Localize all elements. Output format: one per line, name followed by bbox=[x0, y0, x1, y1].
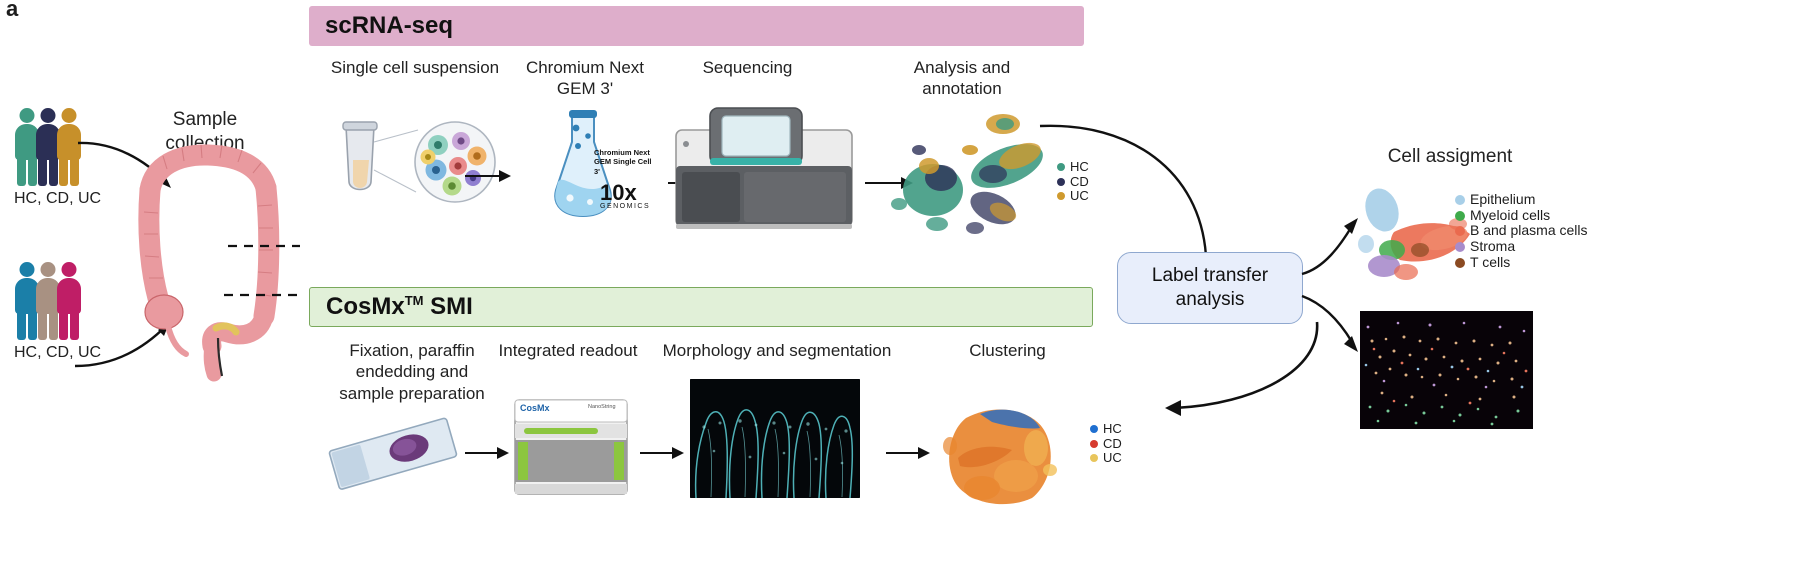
tenx-genomics-logo: 10x GENOMICS bbox=[600, 180, 650, 210]
step-label-sequencing: Sequencing bbox=[680, 57, 815, 78]
legend-item: Epithelium bbox=[1455, 192, 1588, 208]
legend-item: UC bbox=[1090, 451, 1122, 466]
section-title-cosmx: CosMxTM SMI bbox=[326, 293, 473, 321]
colon-illustration bbox=[120, 128, 295, 358]
step-label-clustering: Clustering bbox=[945, 340, 1070, 361]
legend-dot-hc bbox=[1090, 425, 1098, 433]
step-label-fixation: Fixation, paraffin endedding and sample … bbox=[322, 340, 502, 404]
legend-item: CD bbox=[1090, 437, 1122, 452]
label-transfer-box[interactable]: Label transfer analysis bbox=[1117, 252, 1303, 324]
legend-dot-b-and-plasma-cells bbox=[1455, 226, 1465, 236]
cosmx-instrument-vendor: NanoString bbox=[588, 404, 616, 410]
label-transfer-line1: Label transfer bbox=[1152, 265, 1268, 286]
cosmx-instrument-brand: CosMx bbox=[520, 403, 550, 413]
cosmx-instrument-icon bbox=[512, 398, 632, 498]
step-label-integrated-readout: Integrated readout bbox=[493, 340, 643, 361]
slide-icon bbox=[322, 412, 462, 497]
legend-label-t-cells: T cells bbox=[1470, 255, 1510, 271]
legend-dot-myeloid-cells bbox=[1455, 211, 1465, 221]
cell-assignment-title: Cell assigment bbox=[1320, 145, 1580, 169]
tissue-fluorescence-image bbox=[690, 379, 860, 498]
arrow-to-tissue-image bbox=[640, 452, 682, 454]
legend-label-epithelium: Epithelium bbox=[1470, 192, 1535, 208]
section-header-cosmx: CosMxTM SMI bbox=[309, 287, 1093, 327]
legend-item: B and plasma cells bbox=[1455, 223, 1588, 239]
step-label-chromium: Chromium Next GEM 3' bbox=[510, 57, 660, 100]
step-label-analysis-annotation: Analysis and annotation bbox=[892, 57, 1032, 100]
legend-item: Myeloid cells bbox=[1455, 208, 1588, 224]
step-label-morphology-segmentation: Morphology and segmentation bbox=[652, 340, 902, 361]
legend-dot-stroma bbox=[1455, 242, 1465, 252]
legend-dot-uc bbox=[1090, 454, 1098, 462]
legend-dot-cd bbox=[1090, 440, 1098, 448]
legend-dot-t-cells bbox=[1455, 258, 1465, 268]
legend-label-uc: UC bbox=[1103, 451, 1122, 466]
spatial-tissue-plot bbox=[1360, 311, 1533, 429]
panel-letter: a bbox=[6, 0, 18, 22]
trademark-mark: TM bbox=[405, 293, 424, 308]
legend-item: T cells bbox=[1455, 255, 1588, 271]
legend-item: Stroma bbox=[1455, 239, 1588, 255]
arrow-to-chromium bbox=[465, 175, 509, 177]
legend-label-cd: CD bbox=[1103, 437, 1122, 452]
legend-label-hc: HC bbox=[1103, 422, 1122, 437]
sequencer-icon bbox=[672, 104, 862, 229]
arrow-scrna-to-label-transfer bbox=[1020, 118, 1230, 268]
legend-item: HC bbox=[1090, 422, 1122, 437]
section-header-scrna: scRNA-seq bbox=[309, 6, 1084, 46]
legend-label-myeloid-cells: Myeloid cells bbox=[1470, 208, 1550, 224]
chromium-flask-text: Chromium Next GEM Single Cell 3' bbox=[594, 148, 664, 176]
legend-label-b-and-plasma-cells: B and plasma cells bbox=[1470, 223, 1588, 239]
arrow-to-umap-cosmx bbox=[886, 452, 928, 454]
cell-assignment-legend: Epithelium Myeloid cells B and plasma ce… bbox=[1455, 192, 1588, 270]
label-transfer-line2: analysis bbox=[1176, 289, 1245, 310]
arrow-to-instrument bbox=[465, 452, 507, 454]
legend-label-stroma: Stroma bbox=[1470, 239, 1515, 255]
section-title-scrna: scRNA-seq bbox=[325, 12, 453, 40]
umap-plot-cosmx bbox=[936, 388, 1076, 508]
arrow-label-transfer-to-cosmx bbox=[1135, 320, 1325, 430]
tube-with-cells-icon bbox=[330, 120, 510, 220]
legend-dot-epithelium bbox=[1455, 195, 1465, 205]
step-label-single-cell-suspension: Single cell suspension bbox=[330, 57, 500, 78]
umap-legend-cosmx: HC CD UC bbox=[1090, 422, 1122, 466]
